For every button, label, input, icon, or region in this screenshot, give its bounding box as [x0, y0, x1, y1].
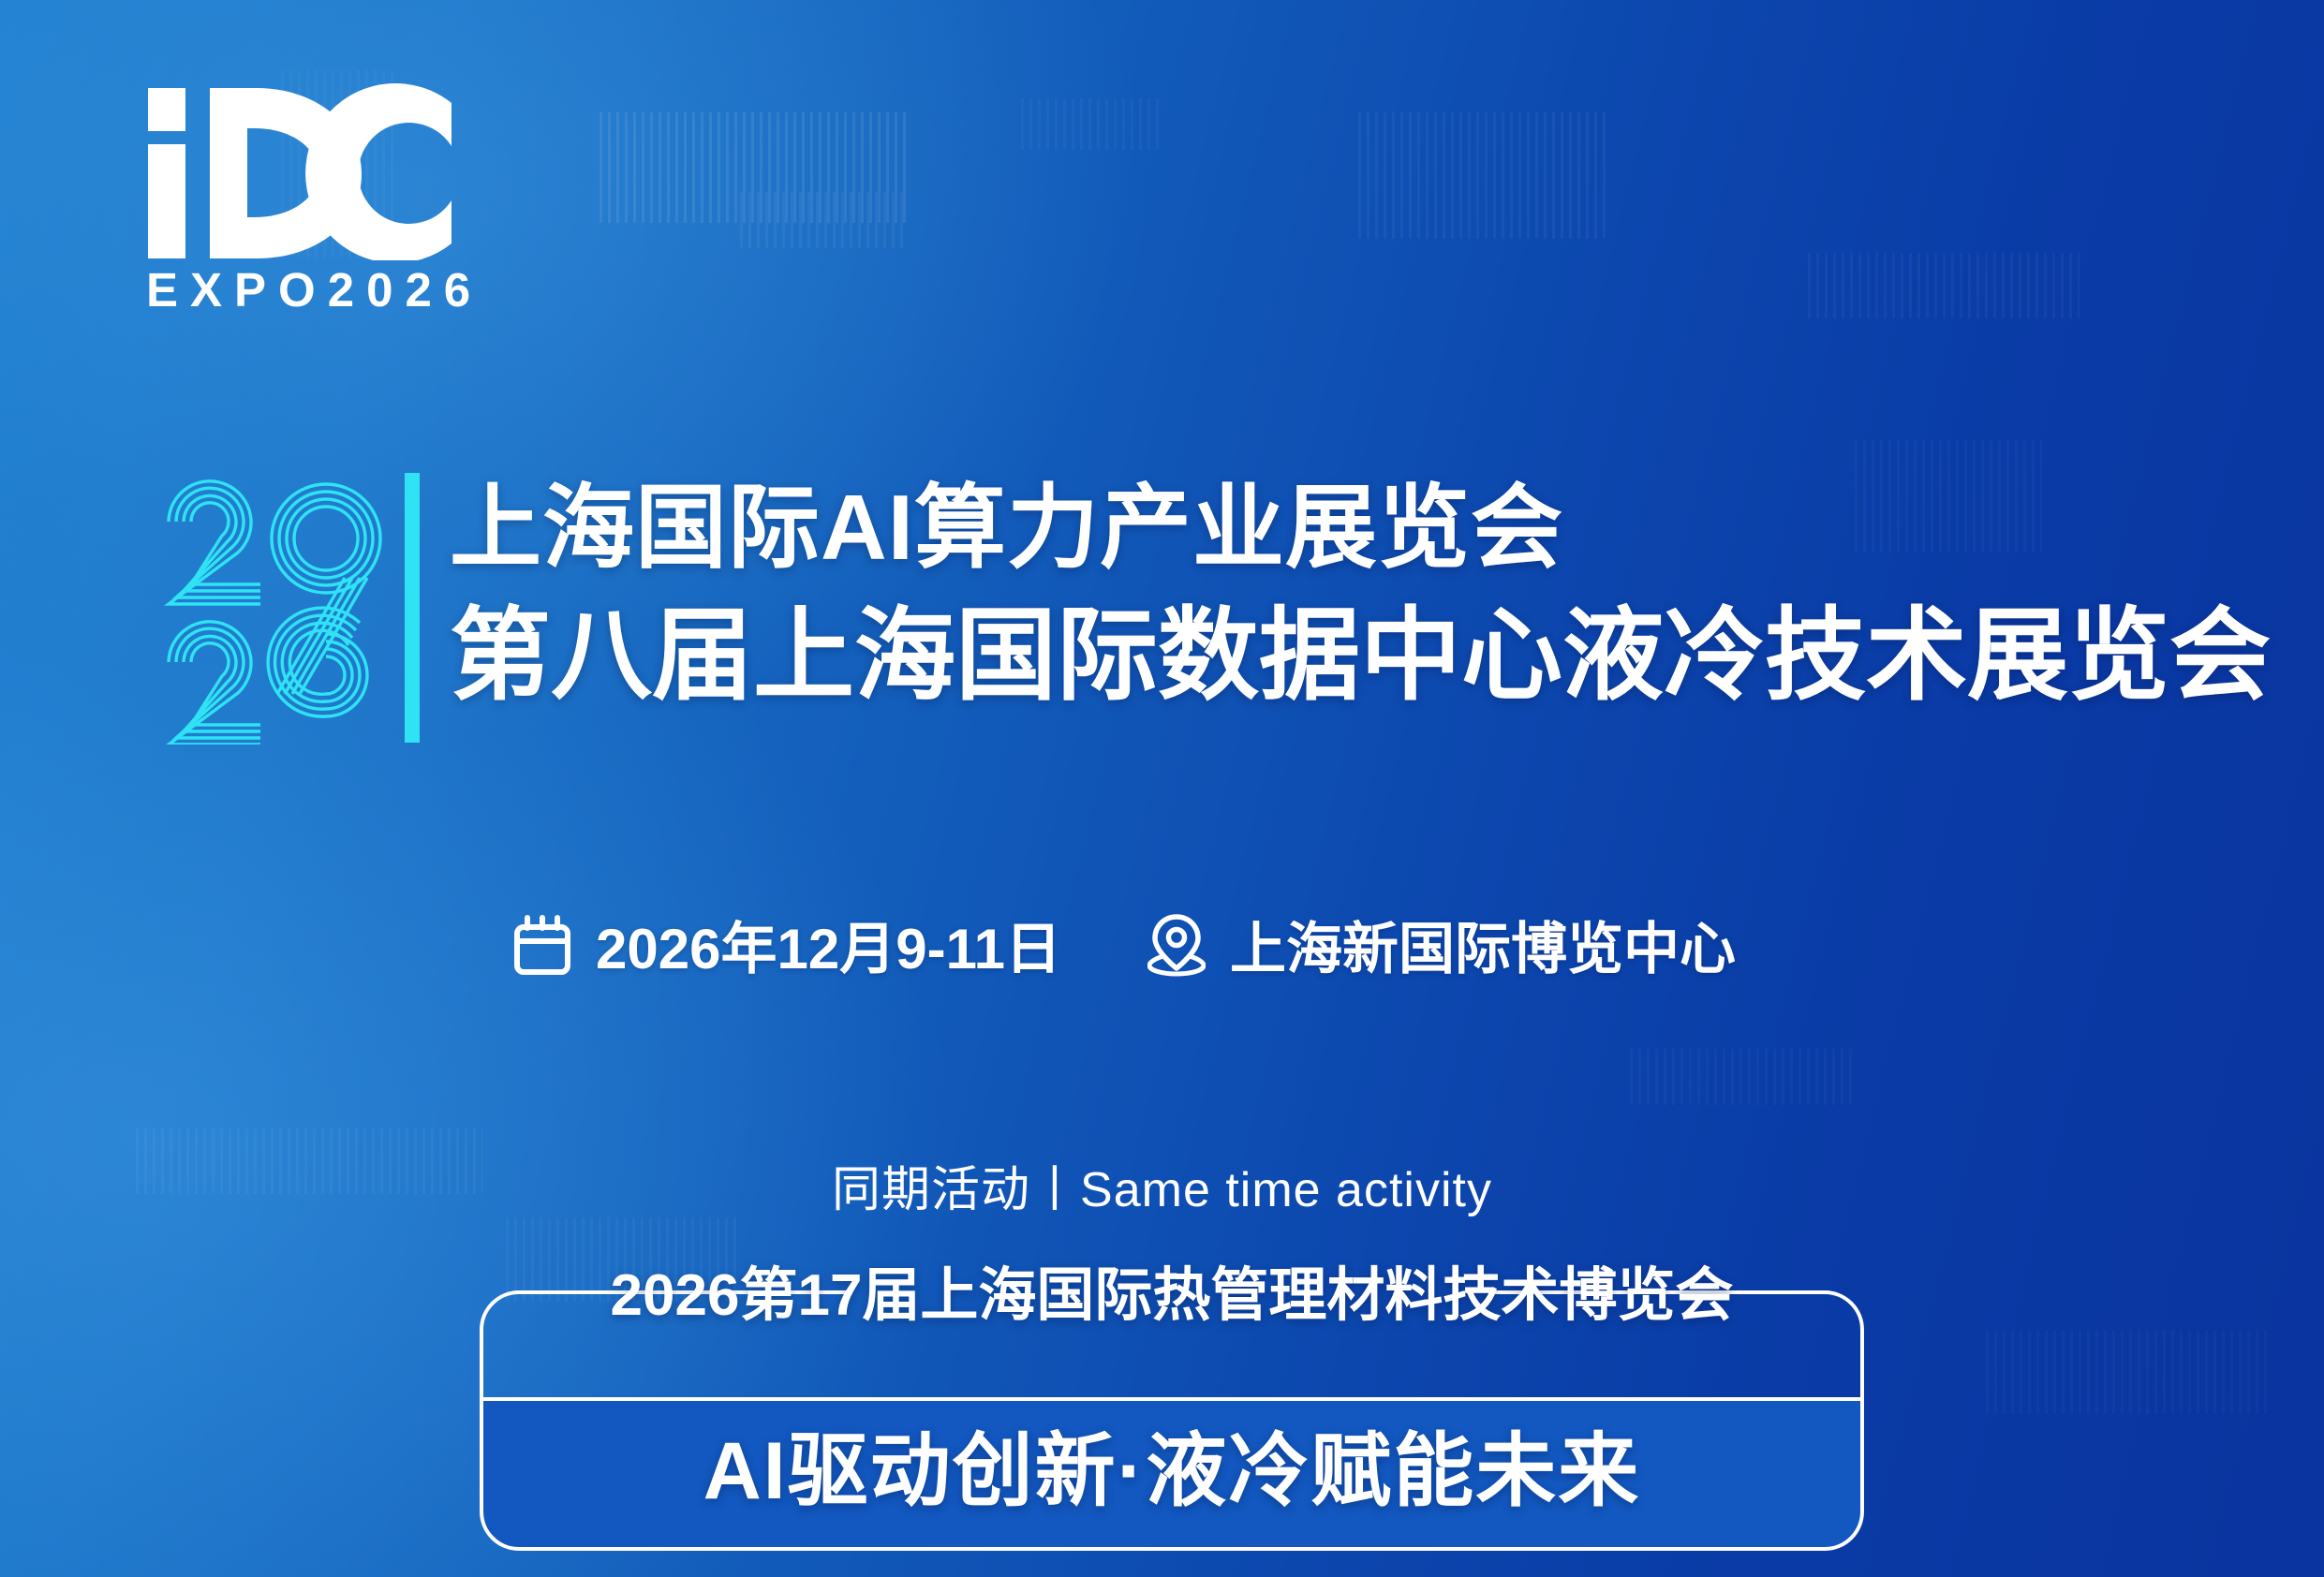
logo-wordmark: EXPO2026: [146, 266, 498, 314]
decor-stripes: [740, 192, 909, 248]
calendar-icon: [513, 914, 571, 976]
event-date-text: 2026年12月9-11日: [596, 904, 1061, 985]
hero-title-primary: 上海国际AI算力产业展览会: [450, 475, 2271, 582]
sub-event-box: 2026第17届上海国际热管理材料技术博览会 AI驱动创新·液冷赋能未来: [480, 1290, 1864, 1551]
brand-logo: EXPO2026: [142, 82, 498, 314]
event-venue: 上海新国际博览中心: [1147, 904, 1736, 985]
decor-stripes: [1358, 112, 1611, 239]
hero-titles: 上海国际AI算力产业展览会 第八届上海国际数据中心液冷技术展览会: [450, 473, 2271, 714]
hero-divider: [405, 473, 420, 743]
decor-stripes: [1808, 253, 2080, 318]
event-venue-text: 上海新国际博览中心: [1230, 904, 1736, 985]
sub-event-slogan: AI驱动创新·液冷赋能未来: [480, 1405, 1864, 1522]
idc-monogram-icon: [142, 82, 461, 260]
hero-section: 上海国际AI算力产业展览会 第八届上海国际数据中心液冷技术展览会: [159, 473, 2271, 744]
poster-canvas: EXPO2026: [0, 0, 2324, 1577]
same-time-activity-label: 同期活动丨Same time activity: [0, 1150, 2324, 1220]
sub-event-title: 2026第17届上海国际热管理材料技术博览会: [480, 1247, 1864, 1332]
hero-title-secondary: 第八届上海国际数据中心液冷技术展览会: [450, 597, 2271, 714]
decor-stripes: [600, 112, 909, 223]
event-date: 2026年12月9-11日: [513, 904, 1061, 985]
decor-stripes: [1630, 1049, 1855, 1105]
year-2026-graphic: [159, 473, 392, 744]
same-time-activity-text: 同期活动丨Same time activity: [832, 1163, 1492, 1217]
decor-stripes: [1986, 1330, 2267, 1414]
decor-stripes: [1021, 98, 1162, 150]
location-pin-icon: [1147, 912, 1206, 978]
event-meta-row: 2026年12月9-11日 上海新国际博览中心: [513, 904, 1736, 985]
